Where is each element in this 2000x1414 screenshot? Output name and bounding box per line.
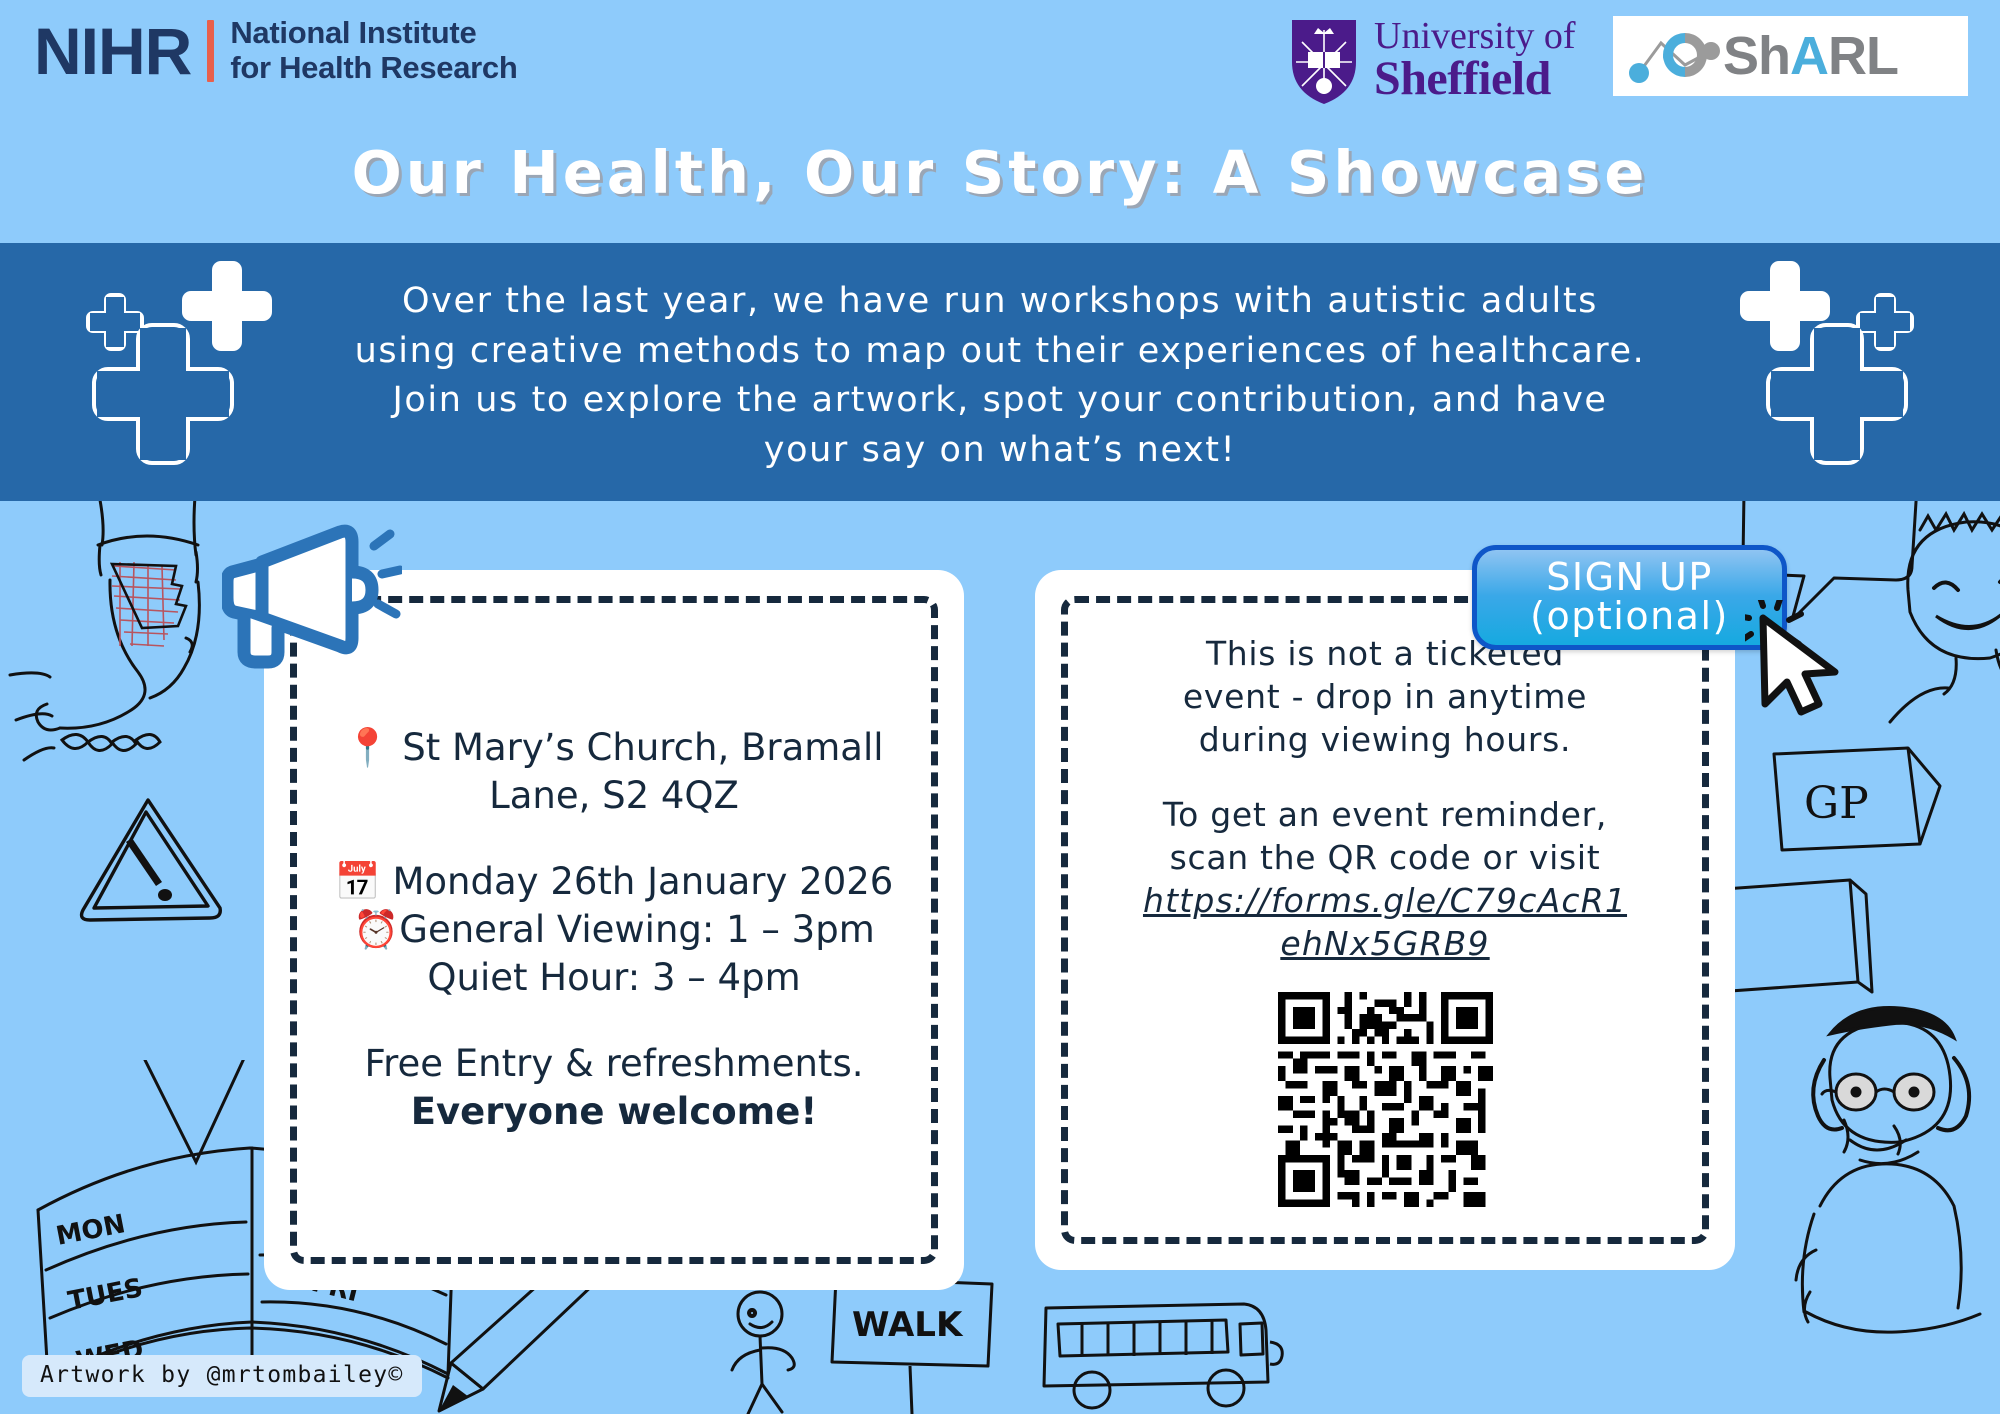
qr-code[interactable]: [1278, 992, 1493, 1207]
doodle-warning-triangle-icon: [70, 790, 230, 930]
everyone-welcome-text: Everyone welcome!: [411, 1088, 817, 1136]
megaphone-icon: [222, 520, 402, 670]
doodle-walk-sign-icon: WALK: [822, 1270, 1012, 1414]
banner-line-2: using creative methods to map out their …: [200, 327, 1800, 377]
sharl-logo: ShARL: [1613, 16, 1968, 96]
banner-line-1: Over the last year, we have run workshop…: [200, 277, 1800, 327]
general-viewing-row: ⏰General Viewing: 1 – 3pm: [353, 906, 875, 954]
sign-up-label: SIGN UP: [1546, 558, 1713, 597]
gp-sign-label: GP: [1804, 778, 1869, 829]
doodle-stick-figure-icon: [690, 1290, 860, 1414]
ticket-info-card-inner: This is not a ticketed event - drop in a…: [1061, 596, 1709, 1244]
banner-line-4: your say on what’s next!: [200, 426, 1800, 476]
sign-up-optional-label: (optional): [1530, 597, 1729, 637]
not-ticketed-prefix: This is: [1206, 634, 1326, 673]
sheffield-line2: Sheffield: [1374, 55, 1576, 102]
event-date: Monday 26th January 2026: [393, 860, 894, 903]
signup-url-line1[interactable]: https://forms.gle/C79cAcR1: [1143, 880, 1627, 923]
location-pin-icon: 📍: [344, 726, 390, 769]
location-row: 📍 St Mary’s Church, Bramall: [344, 724, 883, 772]
not-ticketed-event-word: event: [1183, 677, 1281, 716]
reminder-line2: scan the QR code or visit: [1170, 837, 1601, 880]
doodle-headphones-person-icon: [1790, 1000, 2000, 1414]
sharl-network-icon: [1627, 23, 1723, 89]
doodle-bus-icon: [1030, 1290, 1290, 1414]
poster-root: MON TUES WED THUR FRI: [0, 0, 2000, 1414]
sharl-part-rl: RL: [1828, 26, 1898, 86]
nihr-subtitle-line2: for Health Research: [230, 51, 517, 86]
ticket-info-card: This is not a ticketed event - drop in a…: [1035, 570, 1735, 1270]
calendar-icon: 📅: [335, 860, 381, 903]
free-entry-text: Free Entry & refreshments.: [365, 1040, 864, 1088]
location-line2: Lane, S2 4QZ: [489, 772, 739, 820]
nihr-divider: [207, 20, 214, 82]
drop-in-text: - drop in anytime: [1280, 677, 1587, 716]
sheffield-line1: University of: [1374, 18, 1576, 55]
not-ticketed-line2: event - drop in anytime: [1183, 676, 1587, 719]
nihr-subtitle: National Institute for Health Research: [230, 16, 517, 85]
walk-sign-label: WALK: [852, 1305, 964, 1345]
doodle-smiling-person-icon: [1880, 500, 2000, 780]
sheffield-shield-icon: [1288, 14, 1360, 106]
general-viewing-time: General Viewing: 1 – 3pm: [399, 908, 874, 951]
sign-up-button[interactable]: SIGN UP (optional): [1472, 545, 1787, 650]
diary-tues-label: TUES: [66, 1273, 146, 1317]
quiet-hour-time: Quiet Hour: 3 – 4pm: [427, 954, 800, 1002]
header: NIHR National Institute for Health Resea…: [0, 0, 2000, 240]
sharl-part-a: A: [1790, 26, 1828, 86]
viewing-hours-text: during viewing hours.: [1199, 719, 1571, 762]
page-title: Our Health, Our Story: A Showcase: [0, 138, 2000, 207]
event-details-card: 📍 St Mary’s Church, Bramall Lane, S2 4QZ…: [264, 570, 964, 1290]
diary-mon-label: MON: [54, 1209, 128, 1252]
sheffield-wordmark: University of Sheffield: [1374, 18, 1576, 102]
university-of-sheffield-logo: University of Sheffield: [1288, 14, 1576, 106]
doodle-gp-sign-icon: GP: [1760, 740, 1960, 870]
sharl-part-sh: Sh: [1723, 26, 1790, 86]
alarm-clock-icon: ⏰: [353, 908, 399, 951]
signup-url-line2[interactable]: ehNx5GRB9: [1280, 923, 1489, 966]
nihr-subtitle-line1: National Institute: [230, 16, 517, 51]
artwork-credit: Artwork by @mrtombailey©: [22, 1355, 422, 1397]
mouse-cursor-icon: [1745, 600, 1855, 720]
nihr-logo: NIHR National Institute for Health Resea…: [34, 16, 518, 85]
intro-banner: Over the last year, we have run workshop…: [0, 243, 2000, 501]
event-details-card-inner: 📍 St Mary’s Church, Bramall Lane, S2 4QZ…: [290, 596, 938, 1264]
sharl-wordmark: ShARL: [1723, 29, 1898, 83]
reminder-line1: To get an event reminder,: [1163, 794, 1607, 837]
location-line1: St Mary’s Church, Bramall: [402, 726, 883, 769]
nihr-acronym: NIHR: [34, 18, 191, 84]
date-row: 📅 Monday 26th January 2026: [335, 858, 894, 906]
banner-description: Over the last year, we have run workshop…: [200, 277, 1800, 476]
banner-line-3: Join us to explore the artwork, spot you…: [200, 376, 1800, 426]
